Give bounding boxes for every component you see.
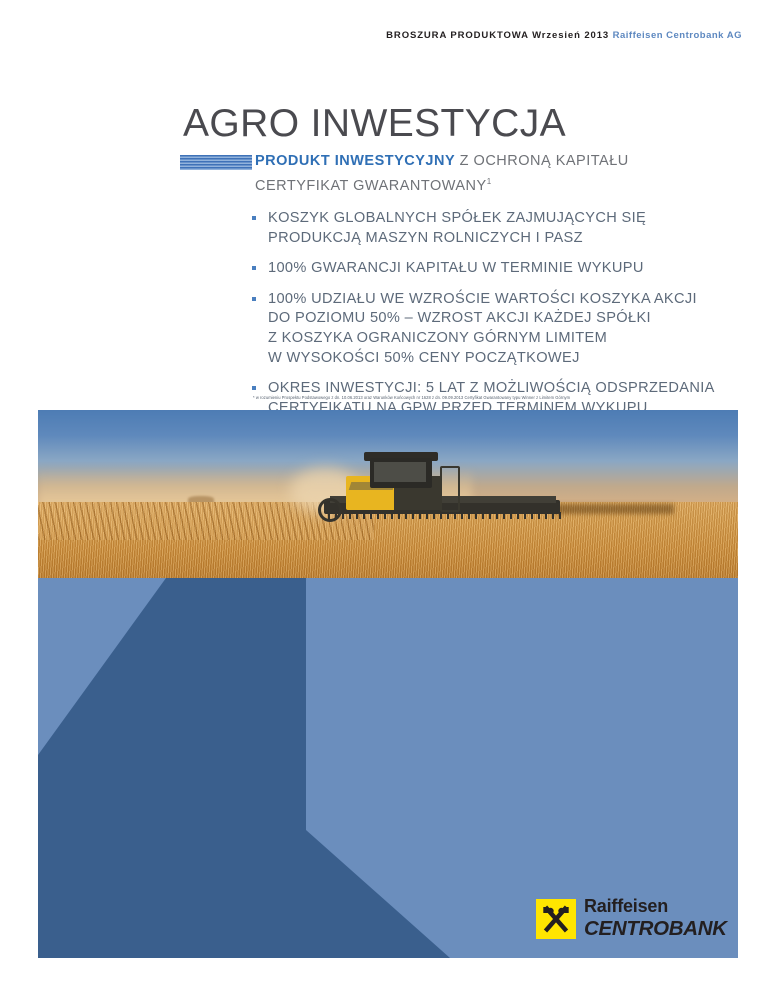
bullet-line: 100% GWARANCJI KAPITAŁU W TERMINIE WYKUP… <box>268 259 752 279</box>
raiffeisen-gable-cross-icon <box>536 899 576 939</box>
bullet-line: DO POZIOMU 50% – WZROST AKCJI KAŻDEJ SPÓ… <box>268 309 752 329</box>
list-item: KOSZYK GLOBALNYCH SPÓŁEK ZAJMUJĄCYCH SIĘ… <box>252 209 752 248</box>
subtitle-line2-text: CERTYFIKAT GWARANTOWANY <box>255 177 487 193</box>
photo-harvester-wheel <box>318 498 342 522</box>
bullet-square-icon <box>252 386 256 390</box>
logo-wordmark: Raiffeisen CENTROBANK <box>584 896 727 940</box>
bullet-line: PRODUKCJĄ MASZYN ROLNICZYCH I PASZ <box>268 229 752 249</box>
bullet-line: W WYSOKOŚCI 50% CENY POCZĄTKOWEJ <box>268 349 752 369</box>
brochure-page: BROSZURA PRODUKTOWA Wrzesień 2013 Raiffe… <box>0 0 768 994</box>
photo-combine-harvester <box>328 448 668 520</box>
subtitle-line2: CERTYFIKAT GWARANTOWANY1 <box>255 172 629 196</box>
list-item: 100% UDZIAŁU WE WZROŚCIE WARTOŚCI KOSZYK… <box>252 290 752 368</box>
page-header: BROSZURA PRODUKTOWA Wrzesień 2013 Raiffe… <box>0 30 768 41</box>
subtitle-footnote-marker: 1 <box>487 177 492 186</box>
header-company: Raiffeisen Centrobank AG <box>613 30 742 41</box>
list-item: 100% GWARANCJI KAPITAŁU W TERMINIE WYKUP… <box>252 259 752 279</box>
subtitle-strong: PRODUKT INWESTYCYJNY <box>255 153 455 169</box>
photo-harvester-teeth <box>328 512 564 519</box>
photo-harvester-ladder <box>440 466 460 512</box>
photo-harvester-shadow <box>554 504 674 514</box>
subtitle-rest: Z OCHRONĄ KAPITAŁU <box>455 153 629 169</box>
photo-harvester-cab-glass <box>374 462 426 482</box>
dark-blue-polygon <box>38 578 450 958</box>
footnote-text: * w rozumieniu Prospektu Podstawowego z … <box>253 395 753 401</box>
bullet-line: Z KOSZYKA OGRANICZONY GÓRNYM LIMITEM <box>268 329 752 349</box>
bullet-line: KOSZYK GLOBALNYCH SPÓŁEK ZAJMUJĄCYCH SIĘ <box>268 209 752 229</box>
logo-line-centrobank: CENTROBANK <box>584 917 727 940</box>
raiffeisen-centrobank-logo: Raiffeisen CENTROBANK <box>536 896 736 944</box>
striped-accent-bar <box>180 155 252 170</box>
bullet-square-icon <box>252 266 256 270</box>
bullet-line: 100% UDZIAŁU WE WZROŚCIE WARTOŚCI KOSZYK… <box>268 290 752 310</box>
logo-line-raiffeisen: Raiffeisen <box>584 896 727 917</box>
page-title: AGRO INWESTYCJA <box>183 102 566 146</box>
hero-photo-combine-harvester <box>38 410 738 580</box>
bullet-square-icon <box>252 297 256 301</box>
subtitle-block: PRODUKT INWESTYCYJNY Z OCHRONĄ KAPITAŁU … <box>255 152 629 196</box>
bullet-square-icon <box>252 216 256 220</box>
header-title: BROSZURA PRODUKTOWA Wrzesień 2013 <box>386 30 609 41</box>
